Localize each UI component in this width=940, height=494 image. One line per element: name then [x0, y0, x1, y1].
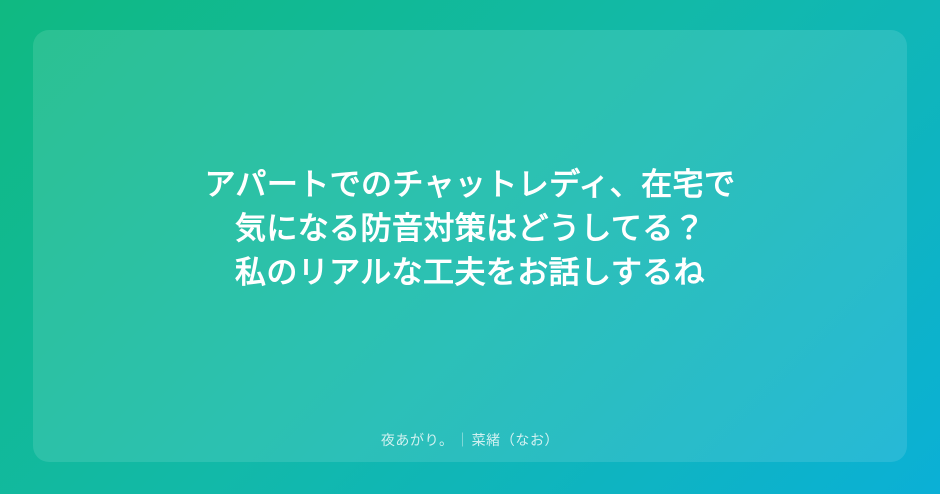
title-line-3: 私のリアルな工夫をお話しするね [235, 251, 705, 295]
footer-site-name: 夜あがり。 [381, 430, 454, 450]
eyecatch-canvas: アパートでのチャットレディ、在宅で 気になる防音対策はどうしてる？ 私のリアルな… [0, 0, 940, 494]
title-line-1: アパートでのチャットレディ、在宅で [205, 163, 736, 207]
footer-credit: 夜あがり。 ｜ 菜緒（なお） [33, 430, 907, 450]
footer-separator: ｜ [454, 430, 472, 450]
title-line-2: 気になる防音対策はどうしてる？ [235, 207, 705, 251]
content-card: アパートでのチャットレディ、在宅で 気になる防音対策はどうしてる？ 私のリアルな… [33, 30, 907, 462]
title-block: アパートでのチャットレディ、在宅で 気になる防音対策はどうしてる？ 私のリアルな… [33, 30, 907, 462]
footer-author: 菜緒（なお） [472, 430, 560, 450]
